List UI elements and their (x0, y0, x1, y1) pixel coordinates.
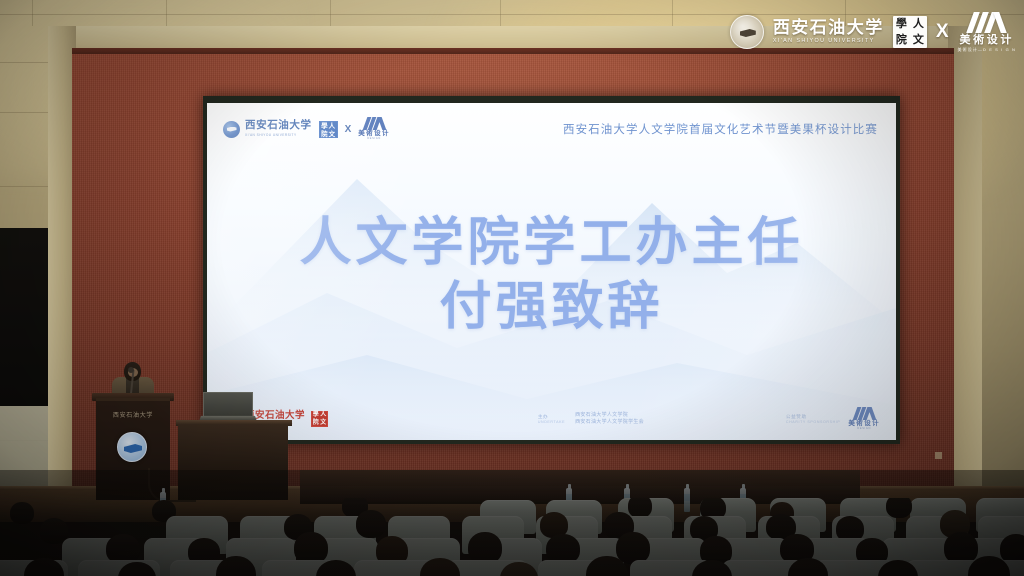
seal-char: 院 (321, 131, 329, 139)
mg-bars-logo-icon (855, 407, 874, 420)
university-seal-icon (730, 15, 764, 49)
projection-screen: 西安石油大学 XI'AN SHIYOU UNIVERSITY 學 人 院 文 X… (207, 103, 896, 440)
power-cable (148, 468, 196, 502)
slide-event-title: 西安石油大学人文学院首届文化艺术节暨美果杯设计比赛 (563, 121, 878, 137)
slide-title-block: 人文学院学工办主任 付强致辞 (207, 211, 896, 339)
seal-char: 文 (320, 420, 328, 428)
university-emblem-icon (117, 432, 147, 462)
watermark-x-separator: X (936, 21, 949, 43)
watermark-university: 西安石油大学 XI'AN SHIYOU UNIVERSITY (773, 19, 884, 44)
watermark-logos: 西安石油大学 XI'AN SHIYOU UNIVERSITY 學 人 院 文 X… (730, 10, 1016, 54)
slide-title-line-1: 人文学院学工办主任 (207, 211, 896, 275)
slide-sponsor-logo: 美術设计 DESIGN (358, 117, 390, 141)
seal-char: 學 (893, 17, 910, 31)
watermark-sponsor-cn: 美術设计 (960, 35, 1014, 46)
mg-bars-logo-icon (365, 117, 384, 130)
host-org-line-1: 西安石油大学人文学院 (575, 412, 644, 419)
watermark-university-en: XI'AN SHIYOU UNIVERSITY (773, 39, 884, 44)
slide-header: 西安石油大学 XI'AN SHIYOU UNIVERSITY 學 人 院 文 X… (207, 103, 896, 155)
auditorium-scene: 西安石油大学 XI'AN SHIYOU UNIVERSITY 學 人 院 文 X… (0, 0, 1024, 576)
audience-head (886, 498, 912, 518)
slide-footer-sponsor-logo: 美術设计 DESIGN (848, 407, 880, 431)
wall-seam (672, 0, 673, 26)
host-label-en: UNDERTAKE (538, 420, 565, 424)
wall-seam (500, 0, 501, 26)
watermark-sponsor-logo: 美術设计 美術设计—D E S I G N (958, 12, 1017, 52)
wall-seam (330, 0, 331, 26)
wall-seam (166, 0, 167, 26)
slide-university-logo: 西安石油大学 XI'AN SHIYOU UNIVERSITY (223, 121, 312, 138)
seal-char: 院 (893, 33, 910, 47)
mg-bars-logo-icon (970, 12, 1003, 33)
seal-char: 人 (910, 17, 927, 31)
seal-char: 院 (312, 420, 320, 428)
slide-x-separator: X (345, 124, 352, 135)
podium-nameplate: 西安石油大学 (104, 410, 162, 419)
slide-footer-sponsor-en: DESIGN (857, 428, 871, 431)
audience-head (628, 498, 652, 518)
host-organizations: 西安石油大学人文学院 西安石油大学人文学院学生会 (575, 412, 644, 426)
audience-area (0, 498, 1024, 576)
host-label: 主办 UNDERTAKE (538, 414, 565, 424)
watermark-university-cn: 西安石油大学 (773, 19, 884, 36)
slide-university-name-cn: 西安石油大学 (245, 121, 312, 132)
seal-char: 學 (312, 412, 320, 420)
watermark-sponsor-en: 美術设计—D E S I G N (958, 48, 1017, 52)
seal-char: 文 (328, 131, 336, 139)
wall-vent (935, 452, 942, 459)
seal-char: 學 (321, 123, 329, 131)
slide-university-name-en: XI'AN SHIYOU UNIVERSITY (245, 134, 312, 137)
slide-sponsor-name-en: DESIGN (367, 138, 381, 141)
seal-char: 人 (320, 412, 328, 420)
seal-char: 人 (328, 123, 336, 131)
department-seal-red-icon: 學 人 院 文 (311, 411, 328, 427)
slide-department-seal-icon: 學 人 院 文 (319, 121, 338, 138)
laptop-icon (203, 392, 253, 417)
sponsor-label: 公益赞助 CHARITY SPONSORSHIP (786, 414, 840, 424)
slide-footer: 西安石油大学 XI'AN SHIYOU UNIVERSITY 學 人 院 文 主… (207, 398, 896, 440)
university-seal-icon (223, 121, 240, 138)
seal-char: 文 (910, 33, 927, 47)
host-org-line-2: 西安石油大学人文学院学生会 (575, 419, 644, 426)
audience-head (356, 510, 386, 538)
sponsor-label-en: CHARITY SPONSORSHIP (786, 420, 840, 424)
slide-header-logos: 西安石油大学 XI'AN SHIYOU UNIVERSITY 學 人 院 文 X… (223, 117, 390, 141)
microphone-head-icon (128, 367, 134, 373)
slide-title-line-2: 付强致辞 (207, 275, 896, 339)
department-seal-icon: 學 人 院 文 (893, 16, 927, 48)
slide-footer-sponsor: 公益赞助 CHARITY SPONSORSHIP 美術设计 DESIGN (696, 407, 880, 431)
slide-footer-host: 主办 UNDERTAKE 西安石油大学人文学院 西安石油大学人文学院学生会 (486, 412, 696, 426)
wall-seam (32, 0, 33, 26)
audience-head (10, 502, 34, 524)
